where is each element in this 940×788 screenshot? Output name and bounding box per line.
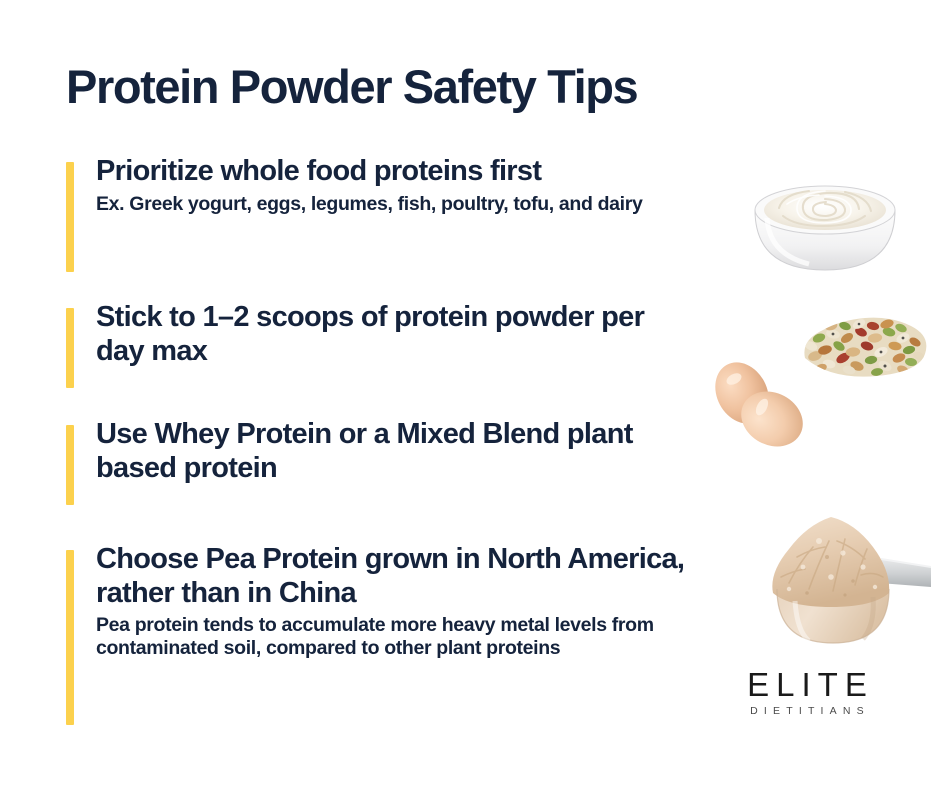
accent-bar-3 <box>66 425 74 505</box>
accent-bar-2 <box>66 308 74 388</box>
brand-logo: ELITE DIETITIANS <box>722 668 892 717</box>
accent-bar-4 <box>66 550 74 725</box>
tip-item-4: Choose Pea Protein grown in North Americ… <box>66 543 756 660</box>
tip-subtext-4: Pea protein tends to accumulate more hea… <box>96 614 756 660</box>
tip-heading-2: Stick to 1–2 scoops of protein powder pe… <box>96 301 656 368</box>
tip-subtext-1: Ex. Greek yogurt, eggs, legumes, fish, p… <box>96 193 736 216</box>
eggs-image <box>702 357 814 449</box>
brand-logo-name: ELITE <box>722 668 892 701</box>
infographic-canvas: Protein Powder Safety Tips Prioritize wh… <box>0 0 940 788</box>
tip-item-2: Stick to 1–2 scoops of protein powder pe… <box>66 301 656 368</box>
tip-heading-4: Choose Pea Protein grown in North Americ… <box>96 543 756 610</box>
tip-item-3: Use Whey Protein or a Mixed Blend plant … <box>66 418 636 485</box>
protein-scoop-image <box>733 497 931 655</box>
page-title: Protein Powder Safety Tips <box>66 62 637 111</box>
tip-heading-3: Use Whey Protein or a Mixed Blend plant … <box>96 418 636 485</box>
brand-logo-tagline: DIETITIANS <box>722 706 892 717</box>
tip-item-1: Prioritize whole food proteins first Ex.… <box>66 155 736 216</box>
tip-heading-1: Prioritize whole food proteins first <box>96 155 736 189</box>
accent-bar-1 <box>66 162 74 272</box>
yogurt-bowl-image <box>739 166 911 278</box>
